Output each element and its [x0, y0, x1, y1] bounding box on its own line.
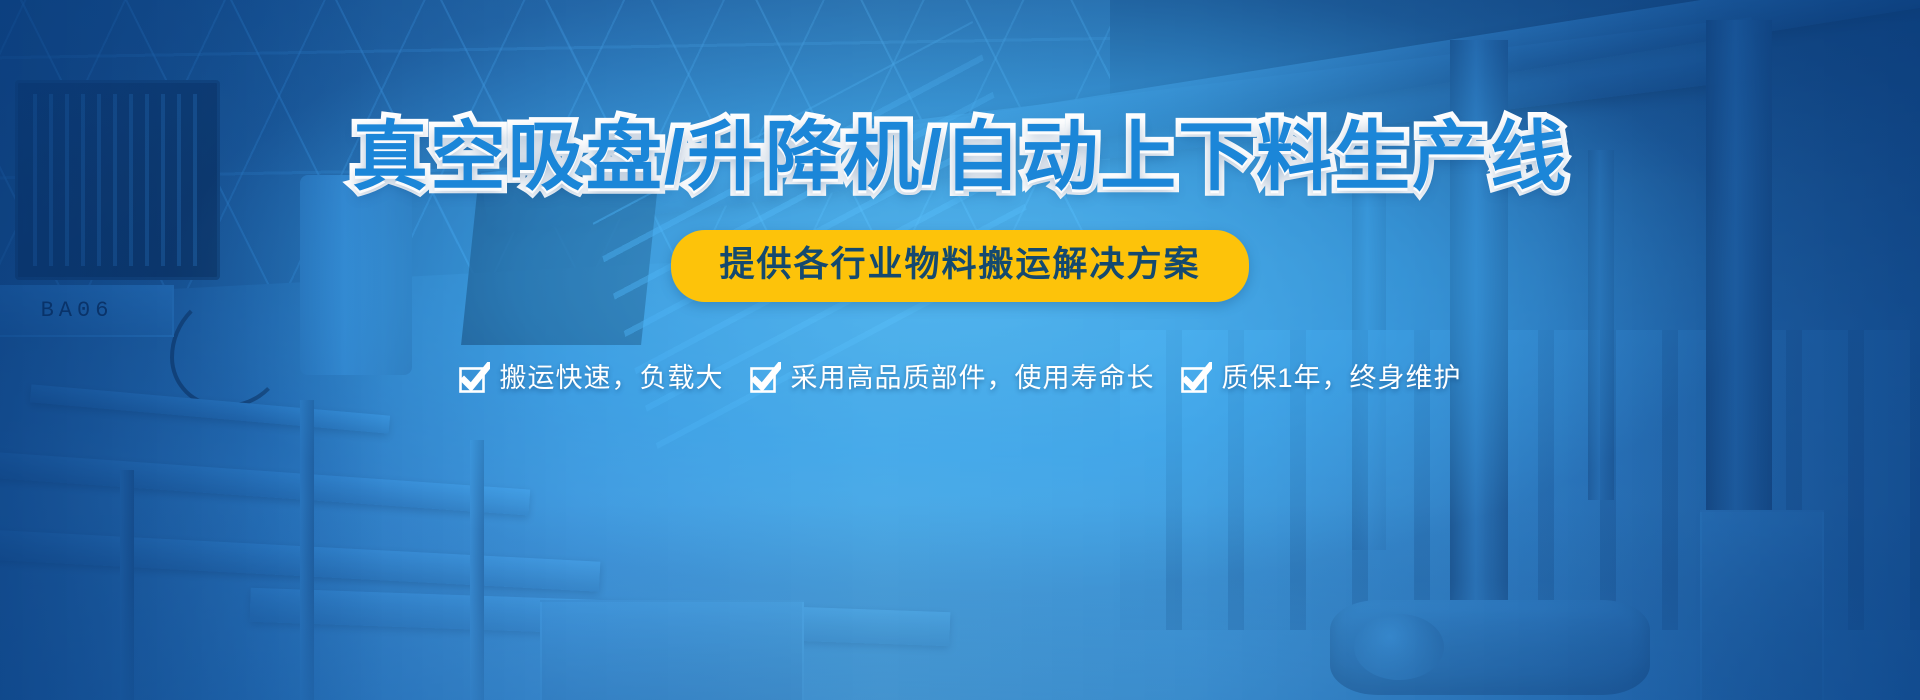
checkbox-checked-icon [1180, 362, 1212, 394]
feature-label: 搬运快速，负载大 [499, 365, 723, 392]
feature-list: 搬运快速，负载大 采用高品质部件，使用寿命长 质保1年，终身维护 [458, 362, 1461, 394]
checkbox-checked-icon [749, 362, 781, 394]
checkbox-checked-icon [458, 362, 490, 394]
banner-content: 真空吸盘/升降机/自动上下料生产线 提供各行业物料搬运解决方案 搬运快速，负载大… [0, 0, 1920, 700]
banner-headline: 真空吸盘/升降机/自动上下料生产线 [352, 120, 1568, 196]
hero-banner: BA06 真空吸盘/升降机/自动上下料生产线 提供各行业物料搬运解决方案 [0, 0, 1920, 700]
feature-item: 搬运快速，负载大 [458, 362, 723, 394]
feature-item: 采用高品质部件，使用寿命长 [749, 362, 1154, 394]
banner-tagline-pill: 提供各行业物料搬运解决方案 [671, 230, 1248, 302]
feature-label: 质保1年，终身维护 [1221, 365, 1461, 392]
feature-item: 质保1年，终身维护 [1180, 362, 1461, 394]
feature-label: 采用高品质部件，使用寿命长 [790, 365, 1154, 392]
